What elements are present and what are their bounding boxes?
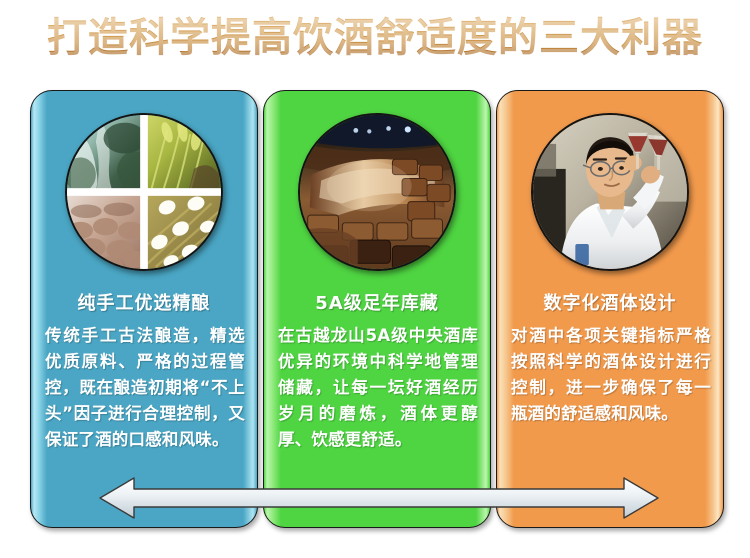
double-headed-arrow-icon — [98, 476, 660, 520]
four-quadrant-brewing-collage-image — [65, 113, 223, 271]
slide-canvas: 打造科学提高饮酒舒适度的三大利器 — [0, 0, 750, 558]
page-title: 打造科学提高饮酒舒适度的三大利器 — [0, 12, 750, 64]
card-heading: 纯手工优选精酿 — [31, 289, 257, 315]
card-body-text: 传统手工古法酿造，精选优质原料、严格的过程管控，既在酿造初期将“不上头”因子进行… — [45, 323, 245, 453]
card-heading: 5A级足年库藏 — [264, 289, 490, 315]
card-body-text: 在古越龙山5A级中央酒库优异的环境中科学地管理储藏，让每一坛好酒经历岁月的磨炼，… — [278, 323, 478, 453]
card-pure-handcraft[interactable]: 纯手工优选精酿 传统手工古法酿造，精选优质原料、严格的过程管控，既在酿造初期将“… — [30, 90, 258, 528]
card-5a-aged-cellar[interactable]: 5A级足年库藏 在古越龙山5A级中央酒库优异的环境中科学地管理储藏，让每一坛好酒… — [263, 90, 491, 528]
wine-cellar-jars-image — [298, 113, 456, 271]
card-digital-blending-design[interactable]: 数字化酒体设计 对酒中各项关键指标严格按照科学的酒体设计进行控制，进一步确保了每… — [496, 90, 724, 528]
card-heading: 数字化酒体设计 — [497, 289, 723, 315]
card-body-text: 对酒中各项关键指标严格按照科学的酒体设计进行控制，进一步确保了每一瓶酒的舒适感和… — [511, 323, 711, 427]
technician-tasting-wine-image — [531, 113, 689, 271]
